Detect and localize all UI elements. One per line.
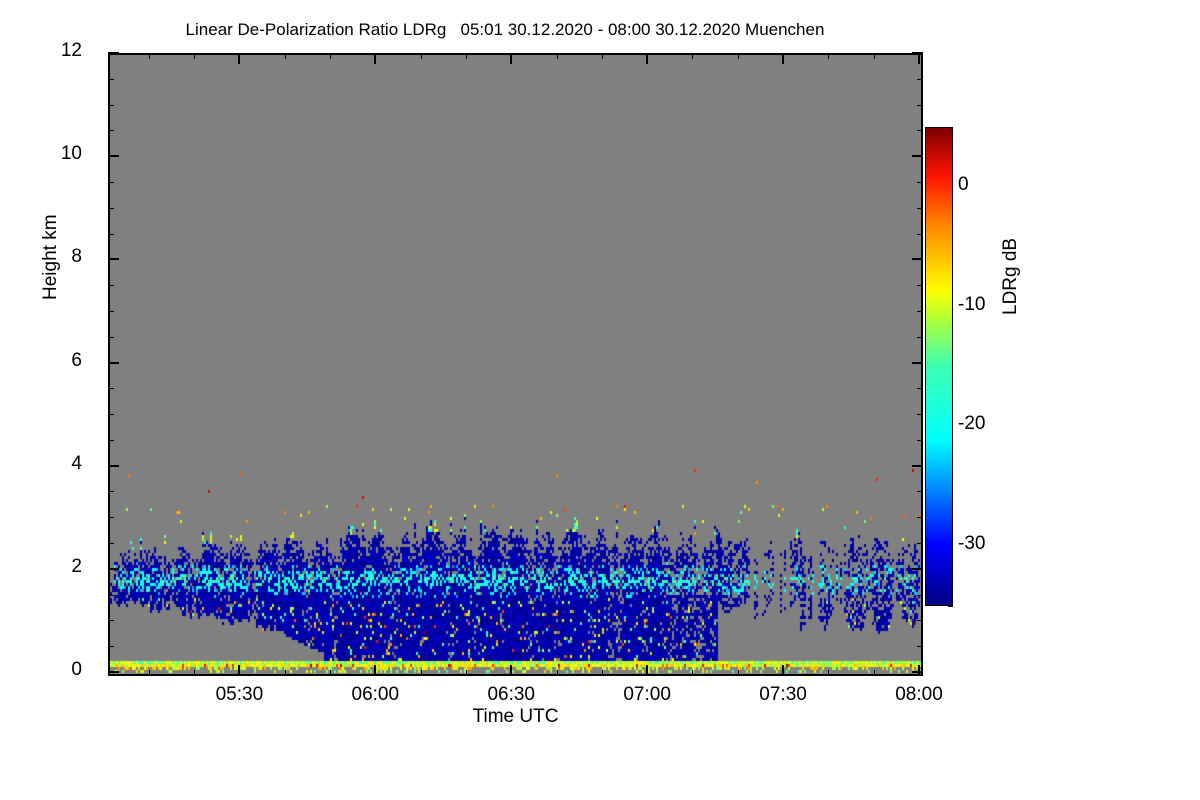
colorbar-minor-tick xyxy=(948,606,953,607)
y-minor-tick-right xyxy=(917,517,923,518)
x-minor-tick-top xyxy=(466,53,467,59)
y-major-tick-right xyxy=(912,258,923,260)
y-minor-tick-right xyxy=(917,595,923,596)
x-axis-title: Time UTC xyxy=(108,706,923,728)
x-major-tick-bottom xyxy=(646,665,648,676)
x-minor-tick-top xyxy=(828,53,829,59)
x-major-tick-top xyxy=(374,53,376,64)
x-minor-tick-bottom xyxy=(149,670,150,676)
y-minor-tick-left xyxy=(108,440,114,441)
colorbar-tick-label: -20 xyxy=(958,413,985,435)
x-tick-label: 07:00 xyxy=(587,684,707,706)
y-minor-tick-right xyxy=(917,491,923,492)
x-minor-tick-bottom xyxy=(557,670,558,676)
colorbar-tick-label: -10 xyxy=(958,294,985,316)
x-minor-tick-bottom xyxy=(194,670,195,676)
x-major-tick-top xyxy=(238,53,240,64)
y-minor-tick-right xyxy=(917,388,923,389)
y-minor-tick-right xyxy=(917,182,923,183)
colorbar-gradient xyxy=(926,128,952,605)
x-major-tick-bottom xyxy=(510,665,512,676)
y-minor-tick-left xyxy=(108,79,114,80)
y-minor-tick-left xyxy=(108,595,114,596)
x-major-tick-top xyxy=(646,53,648,64)
y-minor-tick-right xyxy=(917,105,923,106)
y-minor-tick-left xyxy=(108,414,114,415)
y-minor-tick-right xyxy=(917,208,923,209)
y-minor-tick-right xyxy=(917,414,923,415)
y-minor-tick-right xyxy=(917,646,923,647)
x-major-tick-bottom xyxy=(782,665,784,676)
x-tick-label: 05:30 xyxy=(179,684,299,706)
y-minor-tick-left xyxy=(108,646,114,647)
colorbar-title: LDRg dB xyxy=(1000,238,1022,315)
y-major-tick-right xyxy=(912,465,923,467)
y-minor-tick-right xyxy=(917,311,923,312)
y-major-tick-right xyxy=(912,362,923,364)
y-major-tick-left xyxy=(108,258,119,260)
ldr-heatmap-canvas xyxy=(110,55,921,674)
y-major-tick-right xyxy=(912,568,923,570)
x-minor-tick-top xyxy=(285,53,286,59)
x-minor-tick-top xyxy=(149,53,150,59)
x-minor-tick-bottom xyxy=(602,670,603,676)
x-minor-tick-bottom xyxy=(738,670,739,676)
y-major-tick-right xyxy=(912,155,923,157)
x-minor-tick-bottom xyxy=(466,670,467,676)
y-minor-tick-left xyxy=(108,311,114,312)
y-minor-tick-left xyxy=(108,620,114,621)
y-minor-tick-left xyxy=(108,182,114,183)
x-minor-tick-bottom xyxy=(692,670,693,676)
y-minor-tick-right xyxy=(917,130,923,131)
y-minor-tick-left xyxy=(108,337,114,338)
plot-area xyxy=(108,53,923,676)
x-minor-tick-top xyxy=(738,53,739,59)
y-minor-tick-left xyxy=(108,208,114,209)
x-minor-tick-top xyxy=(602,53,603,59)
y-minor-tick-left xyxy=(108,517,114,518)
x-minor-tick-top xyxy=(421,53,422,59)
y-major-tick-left xyxy=(108,671,119,673)
y-minor-tick-right xyxy=(917,620,923,621)
y-minor-tick-left xyxy=(108,388,114,389)
x-major-tick-bottom xyxy=(374,665,376,676)
y-major-tick-left xyxy=(108,568,119,570)
x-minor-tick-top xyxy=(194,53,195,59)
y-minor-tick-right xyxy=(917,440,923,441)
y-tick-label: 4 xyxy=(0,453,92,475)
x-tick-label: 06:30 xyxy=(451,684,571,706)
y-minor-tick-left xyxy=(108,234,114,235)
x-minor-tick-bottom xyxy=(330,670,331,676)
y-minor-tick-left xyxy=(108,543,114,544)
y-tick-label: 6 xyxy=(0,350,92,372)
y-minor-tick-right xyxy=(917,234,923,235)
y-minor-tick-right xyxy=(917,543,923,544)
y-tick-label: 12 xyxy=(0,40,92,62)
y-major-tick-left xyxy=(108,362,119,364)
radar-ldr-plot: Linear De-Polarization Ratio LDRg 05:01 … xyxy=(0,0,1200,800)
x-minor-tick-top xyxy=(692,53,693,59)
x-major-tick-bottom xyxy=(918,665,920,676)
y-tick-label: 2 xyxy=(0,556,92,578)
y-minor-tick-right xyxy=(917,285,923,286)
y-major-tick-left xyxy=(108,155,119,157)
colorbar-tick-label: -30 xyxy=(958,533,985,555)
chart-title: Linear De-Polarization Ratio LDRg 05:01 … xyxy=(0,20,1010,40)
x-major-tick-top xyxy=(510,53,512,64)
x-tick-label: 07:30 xyxy=(723,684,843,706)
x-major-tick-top xyxy=(918,53,920,64)
y-minor-tick-right xyxy=(917,337,923,338)
x-tick-label: 06:00 xyxy=(315,684,435,706)
x-minor-tick-top xyxy=(557,53,558,59)
y-minor-tick-left xyxy=(108,130,114,131)
y-tick-label: 10 xyxy=(0,143,92,165)
colorbar xyxy=(925,127,953,606)
x-minor-tick-top xyxy=(874,53,875,59)
x-tick-label: 08:00 xyxy=(859,684,979,706)
y-tick-label: 0 xyxy=(0,659,92,681)
x-major-tick-bottom xyxy=(238,665,240,676)
x-minor-tick-bottom xyxy=(828,670,829,676)
y-axis-title: Height km xyxy=(40,214,62,300)
x-minor-tick-bottom xyxy=(285,670,286,676)
y-minor-tick-left xyxy=(108,491,114,492)
y-minor-tick-right xyxy=(917,79,923,80)
x-minor-tick-bottom xyxy=(421,670,422,676)
x-minor-tick-top xyxy=(330,53,331,59)
x-minor-tick-bottom xyxy=(874,670,875,676)
y-major-tick-left xyxy=(108,52,119,54)
y-minor-tick-left xyxy=(108,105,114,106)
x-major-tick-top xyxy=(782,53,784,64)
y-major-tick-left xyxy=(108,465,119,467)
colorbar-tick-label: 0 xyxy=(958,174,969,196)
y-minor-tick-left xyxy=(108,285,114,286)
